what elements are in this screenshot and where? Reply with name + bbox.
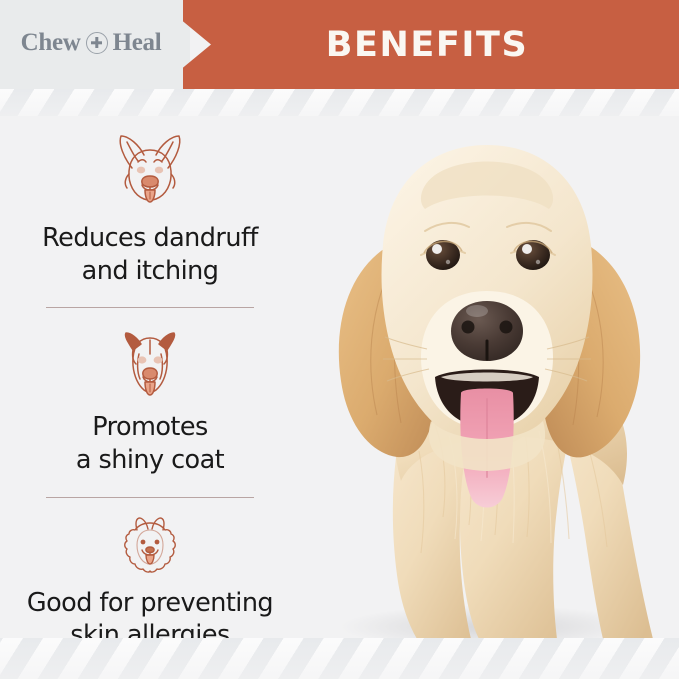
benefit-divider-2	[46, 497, 254, 498]
samoyed-dog-face-icon	[111, 514, 189, 580]
yellow-labrador-puppy-photo	[285, 105, 679, 645]
benefit-item-2: Promotes a shiny coat	[0, 324, 300, 513]
benefit-label-1: Reduces dandruff and itching	[42, 222, 258, 287]
benefit-label-2: Promotes a shiny coat	[76, 411, 224, 476]
brand-name-second: Heal	[113, 29, 162, 57]
corgi-dog-face-icon	[106, 128, 194, 212]
diagonal-stripe-band-bottom	[0, 638, 679, 679]
benefit-item-3: Good for preventing skin allergies	[0, 514, 300, 652]
logo-panel: Chew Heal	[0, 0, 190, 89]
benefit-divider-1	[46, 307, 254, 308]
benefits-infographic: Chew Heal BENEFITS	[0, 0, 679, 679]
circled-plus-icon	[86, 32, 108, 54]
benefits-banner: BENEFITS	[183, 0, 679, 89]
page-title: BENEFITS	[326, 25, 529, 65]
terrier-dog-face-icon	[106, 324, 194, 404]
brand-logo: Chew Heal	[21, 29, 162, 57]
benefit-item-1: Reduces dandruff and itching	[0, 128, 300, 324]
diagonal-stripe-band-top	[0, 89, 679, 116]
header: Chew Heal BENEFITS	[0, 0, 679, 89]
brand-name-first: Chew	[21, 29, 81, 57]
benefits-list: Reduces dandruff and itching	[0, 128, 300, 652]
